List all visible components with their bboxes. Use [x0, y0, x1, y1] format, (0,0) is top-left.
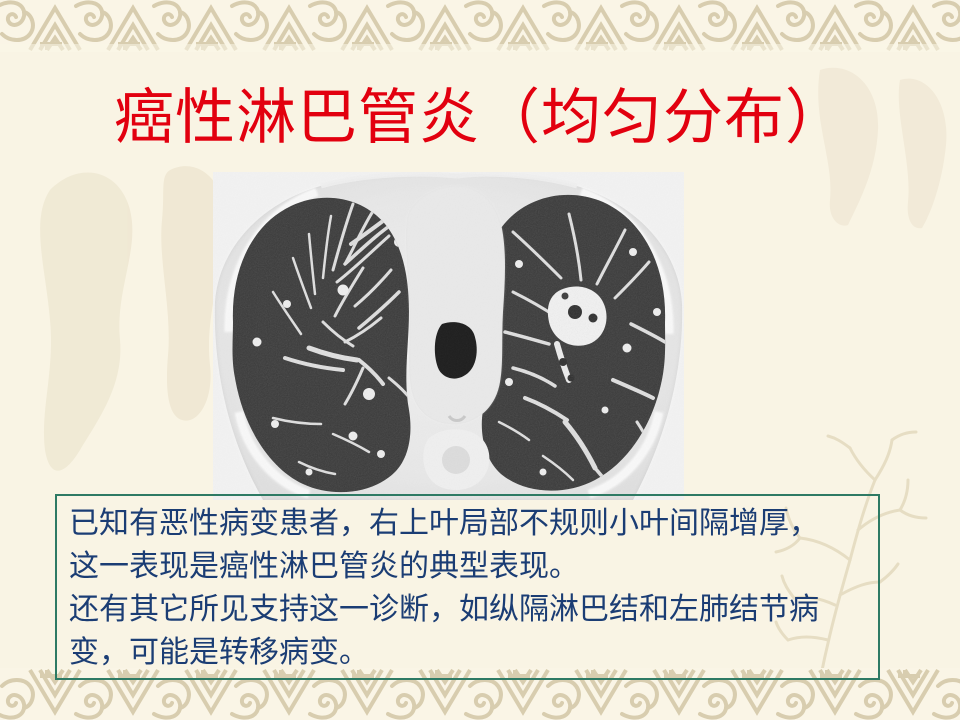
- caption-text: 已知有恶性病变患者，右上叶局部不规则小叶间隔增厚， 这一表现是癌性淋巴管炎的典型…: [69, 502, 875, 674]
- caption-line-2: 这一表现是癌性淋巴管炎的典型表现。: [69, 545, 875, 588]
- chest-ct-image: [213, 172, 684, 500]
- caption-line-4: 变，可能是转移病变。: [69, 631, 875, 674]
- slide-canvas: 癌性淋巴管炎（均匀分布）: [0, 0, 960, 720]
- caption-box: 已知有恶性病变患者，右上叶局部不规则小叶间隔增厚， 这一表现是癌性淋巴管炎的典型…: [55, 494, 880, 680]
- ornamental-border-top: [0, 0, 960, 52]
- caption-line-1: 已知有恶性病变患者，右上叶局部不规则小叶间隔增厚，: [69, 502, 875, 545]
- caption-line-3: 还有其它所见支持这一诊断，如纵隔淋巴结和左肺结节病: [69, 588, 875, 631]
- slide-title: 癌性淋巴管炎（均匀分布）: [0, 86, 960, 150]
